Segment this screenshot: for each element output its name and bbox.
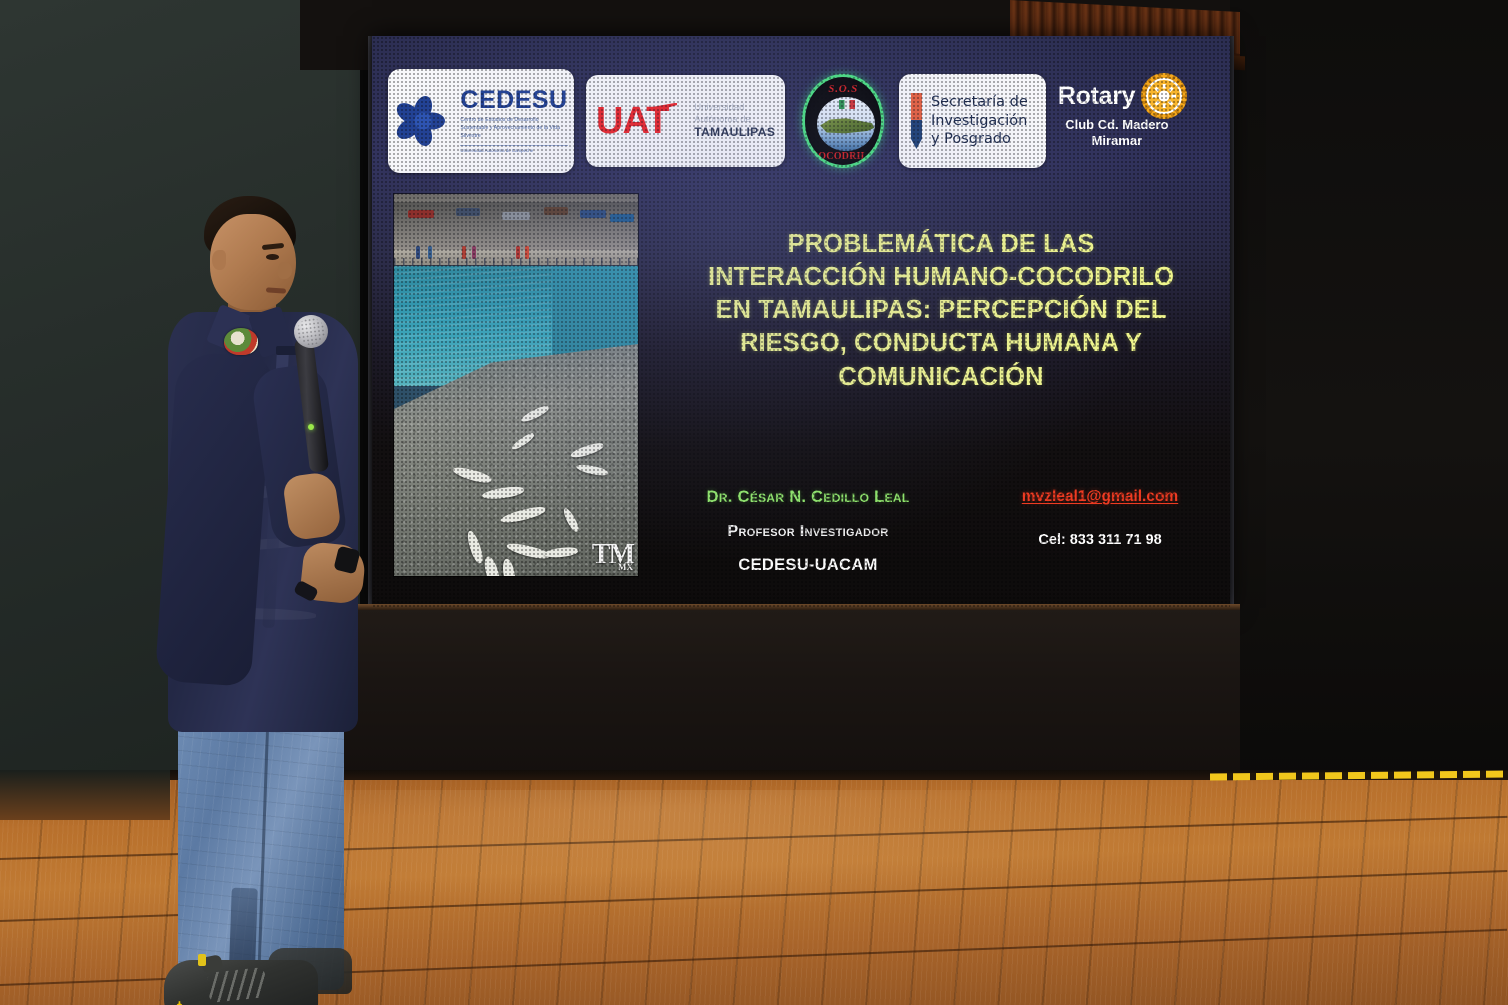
auditorium-right-curtain [1230,0,1508,790]
rotary-wordmark: Rotary [1058,82,1135,111]
stage-skirt-below-screen [340,608,1240,793]
logo-rotary: Rotary Club Cd. Madero [1058,73,1214,169]
secretaria-ribbon-icon [911,93,922,149]
secretaria-line-3: y Posgrado [931,130,1028,149]
presenter-person: ⋔ [150,188,400,988]
presentation-scene: CEDESU Centro de Estudios de Desarrollo … [0,0,1508,1005]
microphone-status-led [308,424,314,430]
rotary-line-2: Miramar [1058,133,1176,149]
screen-frame: CEDESU Centro de Estudios de Desarrollo … [372,36,1230,608]
uat-line-2: Autónoma de [694,114,775,126]
floor-left-shadow [0,770,170,820]
under-armour-logo-icon: ⋔ [174,1000,196,1005]
slide-title-line-5: COMUNICACIÓN [658,361,1224,394]
sos-top-text: S.O.S [805,83,881,95]
logo-cedesu: CEDESU Centro de Estudios de Desarrollo … [388,69,574,173]
secretaria-line-2: Investigación [931,112,1028,131]
cedesu-flower-icon [394,92,452,150]
led-video-wall[interactable]: CEDESU Centro de Estudios de Desarrollo … [372,36,1230,608]
slide-title-line-2: INTERACCIÓN HUMANO-COCODRILO [658,261,1224,294]
presenter-organization: CEDESU-UACAM [648,556,968,575]
logo-sos-cocodrilo: S.O.S COCODRILO [797,71,887,171]
slide-photo-crocodiles: TM MX [394,194,638,576]
presenter-nose [278,262,292,279]
slide-title: PROBLEMÁTICA DE LAS INTERACCIÓN HUMANO-C… [658,228,1224,394]
presenter-shoe-laces [207,967,268,1003]
presenter-name: Dr. César N. Cedillo Leal [648,488,968,507]
cedesu-wordmark: CEDESU [460,88,567,113]
secretaria-line-1: Secretaría de [931,93,1028,112]
slide-title-line-4: RIESGO, CONDUCTA HUMANA Y [658,327,1224,360]
presentation-slide: CEDESU Centro de Estudios de Desarrollo … [372,36,1230,608]
logo-secretaria: Secretaría de Investigación y Posgrado [899,74,1046,168]
uat-line-3: TAMAULIPAS [694,125,775,140]
stage-skirt-top-edge [340,604,1240,610]
slide-presenter-block: Dr. César N. Cedillo Leal Profesor Inves… [648,488,968,575]
presenter-role: Profesor Investigador [648,523,968,541]
contact-phone: Cel: 833 311 71 98 [980,532,1220,548]
sos-bottom-text: COCODRILO [805,151,881,162]
cedesu-institution: Universidad Autónoma de Campeche [460,145,567,153]
slide-title-line-1: PROBLEMÁTICA DE LAS [658,228,1224,261]
uat-line-1: Universidad [694,102,775,114]
presenter-shoe-pull-tab [198,954,206,966]
presenter-shoulder-patch-icon [224,328,258,355]
logo-uat: UAT Universidad Autónoma de TAMAULIPAS [586,75,785,167]
rotary-line-1: Club Cd. Madero [1058,117,1176,133]
presenter-ear [212,250,226,270]
photo-watermark: TM MX [592,544,633,571]
sos-crocodile-icon [817,97,875,151]
contact-email: mvzleal1@gmail.com [980,488,1220,506]
rotary-gear-icon [1141,73,1187,119]
sponsor-logo-bar: CEDESU Centro de Estudios de Desarrollo … [388,62,1214,180]
slide-contact-block: mvzleal1@gmail.com Cel: 833 311 71 98 [980,488,1220,548]
cedesu-subtitle: Centro de Estudios de Desarrollo Sustent… [460,117,567,140]
slide-title-line-3: EN TAMAULIPAS: PERCEPCIÓN DEL [658,294,1224,327]
presenter-eye [266,254,279,260]
